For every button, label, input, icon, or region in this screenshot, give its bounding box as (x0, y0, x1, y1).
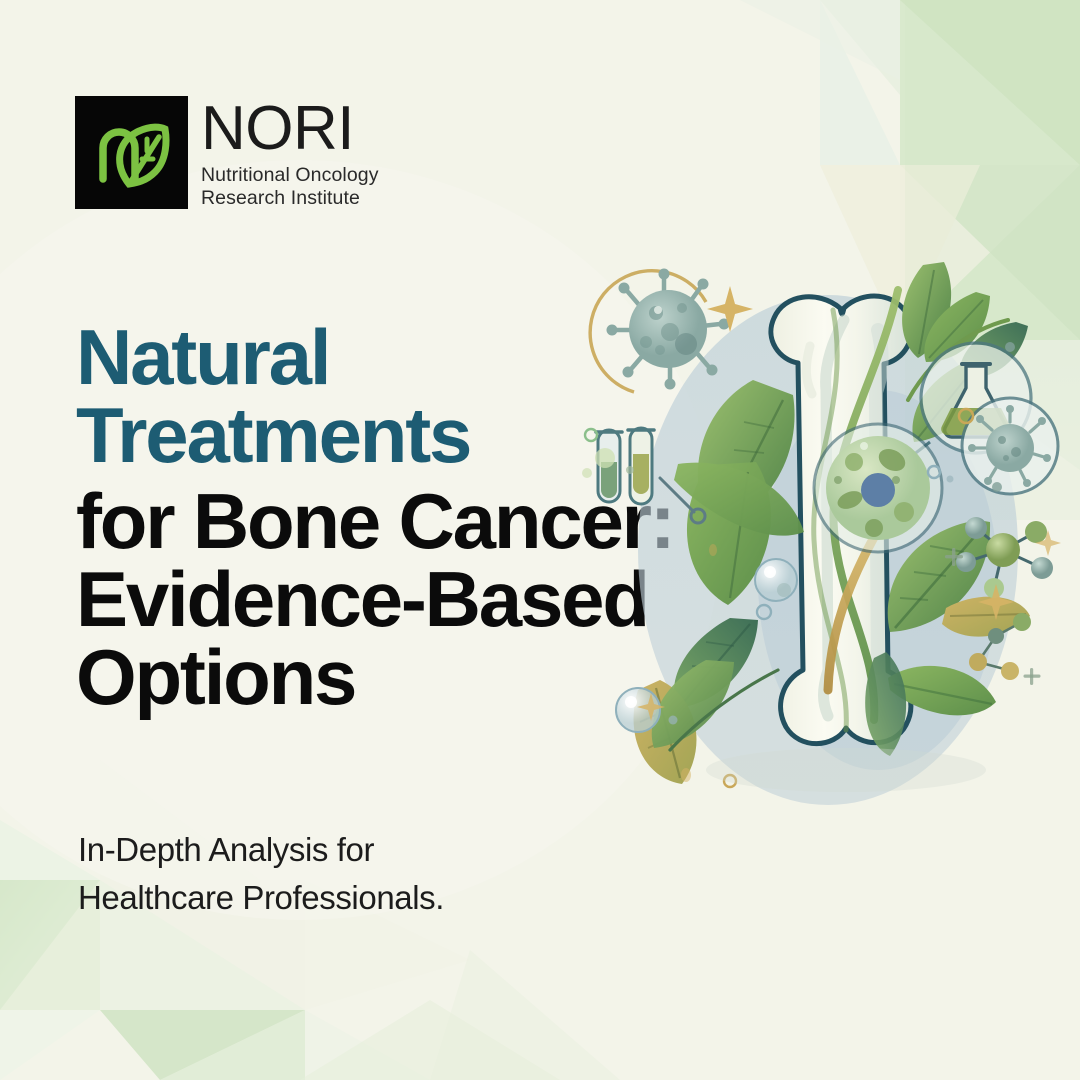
bubble-icon (669, 716, 678, 725)
bubble-icon (595, 448, 615, 468)
bubble-icon (585, 429, 597, 441)
bubble-icon (755, 559, 797, 601)
bubble-icon (992, 482, 1002, 492)
hero-illustration (578, 250, 1078, 840)
bubble-icon (582, 468, 592, 478)
brand-logo[interactable]: NORI Nutritional Oncology Research Insti… (75, 96, 379, 210)
bone-botanical-science-graphic (578, 250, 1078, 840)
accent-dot (681, 768, 691, 782)
cell-diagram-icon (814, 424, 942, 552)
bubble-icon (1005, 342, 1015, 352)
accent-dot (709, 544, 717, 556)
brand-tagline: Nutritional Oncology Research Institute (201, 164, 379, 210)
brand-text: NORI Nutritional Oncology Research Insti… (201, 96, 379, 210)
virus-particle-icon (590, 269, 729, 393)
bubble-icon (626, 466, 634, 474)
cross-icon (1024, 668, 1041, 685)
ground-shadow (706, 748, 986, 792)
brand-wordmark: NORI (201, 100, 379, 159)
bubble-icon (947, 476, 954, 483)
leaf-n-monogram-icon (75, 96, 188, 209)
page-subtitle: In-Depth Analysis for Healthcare Profess… (78, 826, 444, 921)
virus-particle-icon (962, 398, 1058, 494)
